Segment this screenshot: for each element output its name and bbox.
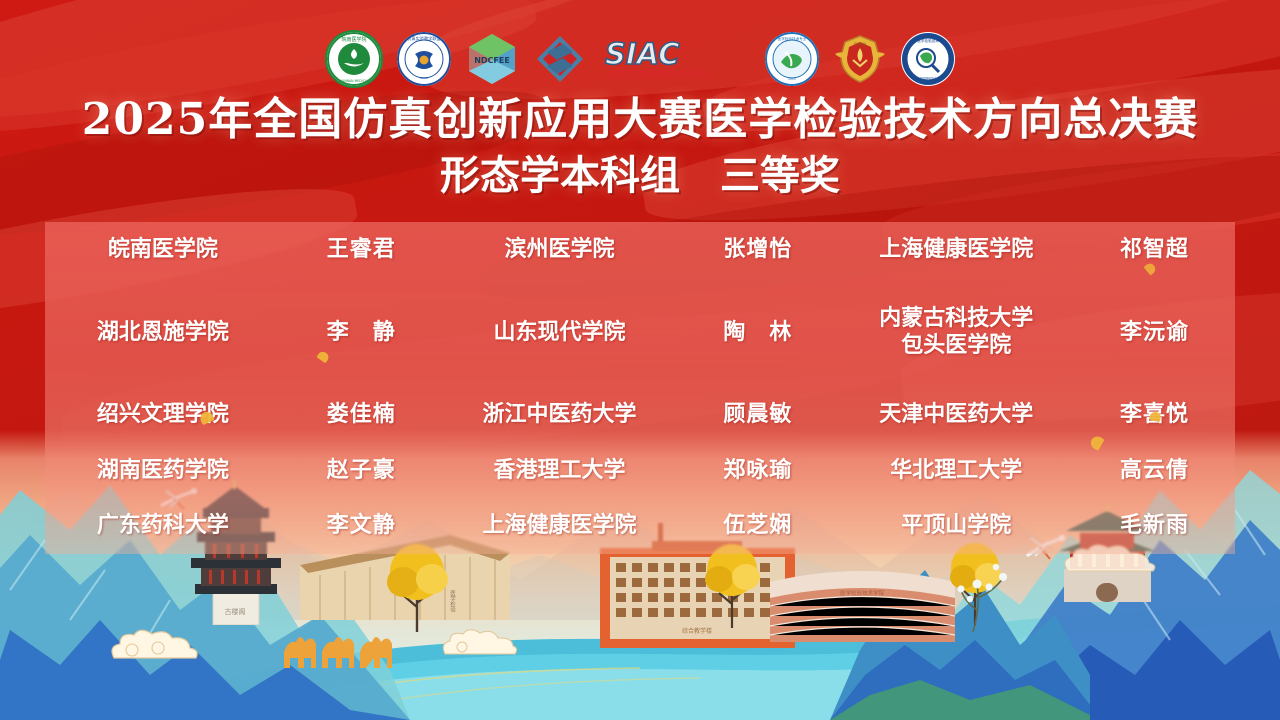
cell-school: 广东药科大学 (45, 498, 281, 554)
cell-student-name: 高云倩 (1074, 442, 1235, 498)
svg-text:全国仿真创新应用大赛: 全国仿真创新应用大赛 (606, 68, 708, 81)
cell-school: 天津中医药大学 (838, 386, 1074, 442)
svg-text:皖南医学院: 皖南医学院 (341, 36, 366, 43)
svg-text:仿真实验教学联盟: 仿真实验教学联盟 (407, 35, 441, 42)
award-list-panel: 皖南医学院王睿君滨州医学院张增怡上海健康医学院祁智超湖北恩施学院李 静山东现代学… (45, 222, 1235, 554)
cell-school: 香港理工大学 (442, 442, 678, 498)
cell-school: 上海健康医学院 (442, 498, 678, 554)
globe-blue-logo: 医学检验技术 ZHONGHUA (901, 32, 955, 86)
svg-text:古楼阁: 古楼阁 (225, 607, 246, 616)
cell-school: 湖北恩施学院 (45, 278, 281, 386)
table-row: 湖南医药学院赵子豪香港理工大学郑咏瑜华北理工大学高云倩 (45, 442, 1235, 498)
svg-text:综合教学楼: 综合教学楼 (682, 627, 712, 635)
cell-student-name: 李文静 (281, 498, 442, 554)
table-row: 皖南医学院王睿君滨州医学院张增怡上海健康医学院祁智超 (45, 222, 1235, 278)
cell-student-name: 王睿君 (281, 222, 442, 278)
siac-logo: SIAC 全国仿真创新应用大赛 (601, 32, 751, 86)
ndcfee-logo: NDCFEE (465, 32, 519, 86)
cell-school: 滨州医学院 (442, 222, 678, 278)
cell-student-name: 张增怡 (677, 222, 838, 278)
svg-text:医学检验技术: 医学检验技术 (917, 38, 939, 43)
page-title-line2: 形态学本科组 三等奖 (0, 150, 1280, 202)
cell-school: 皖南医学院 (45, 222, 281, 278)
camel-caravan (278, 622, 398, 668)
cell-school: 平顶山学院 (838, 498, 1074, 554)
svg-text:医学检验技术学院: 医学检验技术学院 (840, 589, 885, 597)
auspicious-cloud-left (108, 626, 203, 662)
cell-school: 山东现代学院 (442, 278, 678, 386)
cell-school: 浙江中医药大学 (442, 386, 678, 442)
cell-student-name: 顾晨敏 (677, 386, 838, 442)
cell-student-name: 毛新雨 (1074, 498, 1235, 554)
cell-student-name: 陶 林 (677, 278, 838, 386)
award-table-body: 皖南医学院王睿君滨州医学院张增怡上海健康医学院祁智超湖北恩施学院李 静山东现代学… (45, 222, 1235, 554)
blossom-branch (955, 552, 1025, 632)
svg-text:医学检验: 医学检验 (854, 41, 866, 46)
cell-student-name: 娄佳楠 (281, 386, 442, 442)
award-table: 皖南医学院王睿君滨州医学院张增怡上海健康医学院祁智超湖北恩施学院李 静山东现代学… (45, 222, 1235, 554)
svg-text:2018: 2018 (420, 76, 428, 80)
svg-text:ZHONGHUA: ZHONGHUA (920, 76, 937, 80)
svg-text:2003: 2003 (788, 77, 796, 81)
cell-student-name: 郑咏瑜 (677, 442, 838, 498)
auspicious-cloud-mid (440, 626, 520, 658)
poster-canvas: 古楼阁 医学检验 (0, 0, 1280, 720)
green-circle-institute-logo: 医学检验技术专业 2003 (765, 32, 819, 86)
curved-campus-building: 医学检验技术学院 (770, 560, 955, 642)
svg-text:医学检验技术专业: 医学检验技术专业 (778, 36, 807, 41)
wannan-medical-college-logo: 皖南医学院 WANNAN MEDICAL (325, 30, 383, 88)
gold-emblem-logo: 医学检验 (833, 32, 887, 86)
sponsor-logos-row: 皖南医学院 WANNAN MEDICAL 仿真实验教学联盟 2018 ND (0, 30, 1280, 88)
cell-school: 绍兴文理学院 (45, 386, 281, 442)
cell-school: 上海健康医学院 (838, 222, 1074, 278)
cell-student-name: 李沅谕 (1074, 278, 1235, 386)
table-row: 广东药科大学李文静上海健康医学院伍芝娴平顶山学院毛新雨 (45, 498, 1235, 554)
diamond-blue-logo (533, 32, 587, 86)
simulation-education-logo: 仿真实验教学联盟 2018 (397, 32, 451, 86)
table-row: 湖北恩施学院李 静山东现代学院陶 林内蒙古科技大学包头医学院李沅谕 (45, 278, 1235, 386)
table-row: 绍兴文理学院娄佳楠浙江中医药大学顾晨敏天津中医药大学李喜悦 (45, 386, 1235, 442)
title-block: 2025年全国仿真创新应用大赛医学检验技术方向总决赛 形态学本科组 三等奖 (0, 94, 1280, 202)
cell-school: 华北理工大学 (838, 442, 1074, 498)
svg-text:WANNAN MEDICAL: WANNAN MEDICAL (339, 79, 369, 83)
svg-text:NDCFEE: NDCFEE (474, 56, 510, 65)
cell-student-name: 赵子豪 (281, 442, 442, 498)
page-title-line1: 2025年全国仿真创新应用大赛医学检验技术方向总决赛 (0, 94, 1280, 146)
cell-school: 湖南医药学院 (45, 442, 281, 498)
cell-school: 内蒙古科技大学包头医学院 (838, 278, 1074, 386)
cell-student-name: 李 静 (281, 278, 442, 386)
cell-student-name: 伍芝娴 (677, 498, 838, 554)
svg-text:SIAC: SIAC (605, 37, 680, 71)
